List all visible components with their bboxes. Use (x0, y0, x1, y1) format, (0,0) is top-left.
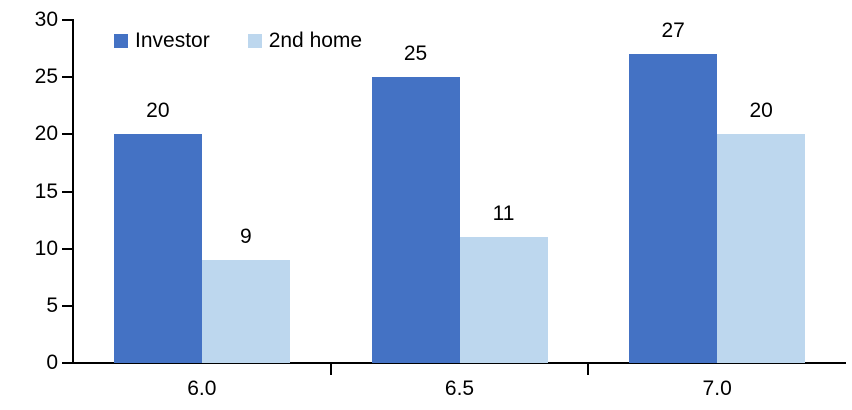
x-axis-category-label: 7.0 (703, 378, 732, 399)
bar-value-label: 20 (749, 100, 772, 121)
bar-investor-6.0[interactable] (114, 134, 202, 363)
y-axis-tick-label: 20 (6, 123, 58, 144)
x-axis-tick (330, 364, 332, 375)
bar-value-label: 25 (404, 43, 427, 64)
legend-label-investor: Investor (135, 30, 210, 51)
legend-item-second-home[interactable]: 2nd home (248, 30, 362, 51)
legend-label-second-home: 2nd home (269, 30, 362, 51)
y-axis-tick (62, 133, 73, 135)
y-axis-tick-label: 30 (6, 9, 58, 30)
y-axis-tick (62, 248, 73, 250)
bar-value-label: 9 (240, 226, 252, 247)
y-axis-tick-label: 15 (6, 181, 58, 202)
bar-value-label: 27 (661, 20, 684, 41)
bar-investor-7.0[interactable] (629, 54, 717, 363)
x-axis-category-label: 6.5 (445, 378, 474, 399)
bar-2nd-home-6.0[interactable] (202, 260, 290, 363)
x-axis-category-label: 6.0 (187, 378, 216, 399)
bar-value-label: 20 (146, 100, 169, 121)
y-axis-tick (62, 305, 73, 307)
y-axis-tick-label: 25 (6, 66, 58, 87)
legend-swatch-second-home-icon (248, 34, 262, 48)
bar-value-label: 11 (493, 203, 515, 224)
legend-swatch-investor-icon (114, 34, 128, 48)
legend-item-investor[interactable]: Investor (114, 30, 210, 51)
legend: Investor 2nd home (114, 30, 362, 51)
y-axis-tick (62, 362, 73, 364)
bar-investor-6.5[interactable] (372, 77, 460, 363)
y-axis-tick (62, 191, 73, 193)
bar-2nd-home-7.0[interactable] (717, 134, 805, 363)
y-axis-tick-label: 5 (6, 295, 58, 316)
x-axis-tick (587, 364, 589, 375)
y-axis-tick (62, 19, 73, 21)
bar-2nd-home-6.5[interactable] (460, 237, 548, 363)
bar-chart: 051015202530 6.06.57.0 20925112720 Inves… (0, 0, 852, 410)
y-axis-tick-label: 0 (6, 352, 58, 373)
y-axis-tick (62, 76, 73, 78)
y-axis-tick-label: 10 (6, 238, 58, 259)
